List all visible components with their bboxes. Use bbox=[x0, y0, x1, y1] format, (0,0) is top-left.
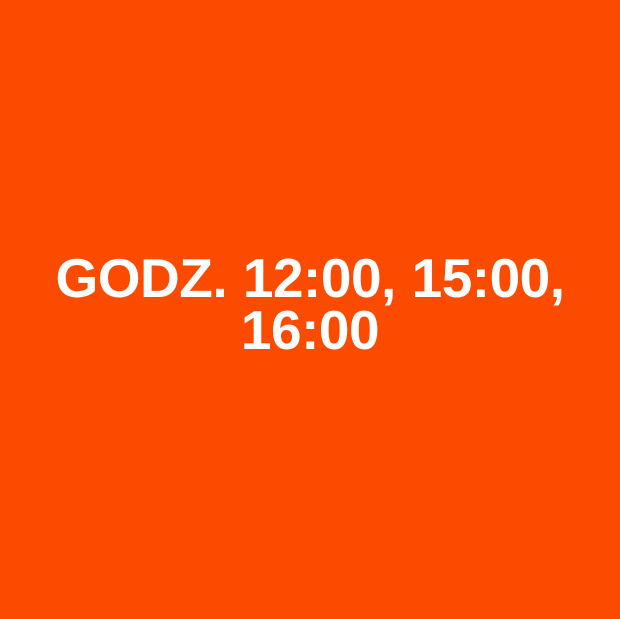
orange-schedule-banner: GODZ. 12:00, 15:00, 16:00 bbox=[0, 0, 620, 619]
schedule-times-headline: GODZ. 12:00, 15:00, 16:00 bbox=[40, 252, 580, 356]
headline-container: GODZ. 12:00, 15:00, 16:00 bbox=[40, 252, 580, 356]
